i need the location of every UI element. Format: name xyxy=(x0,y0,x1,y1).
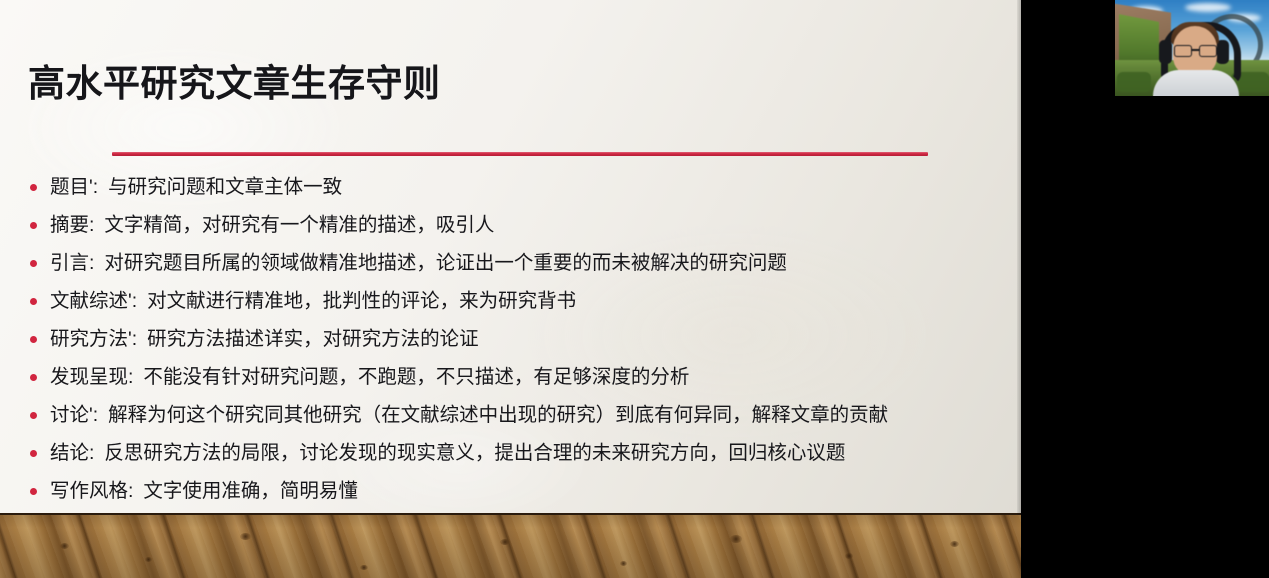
list-item: 写作风格: 文字使用准确，简明易懂 xyxy=(26,472,1006,510)
bullet-text: 研究方法描述详实，对研究方法的论证 xyxy=(147,320,479,358)
bullet-label: 研究方法': xyxy=(50,320,137,358)
presenter-video-thumbnail[interactable] xyxy=(1115,0,1269,96)
screen-share-stage: 高水平研究文章生存守则 题目': 与研究问题和文章主体一致 摘要: 文字精简，对… xyxy=(0,0,1269,578)
list-item: 摘要: 文字精简，对研究有一个精准的描述，吸引人 xyxy=(26,206,1006,244)
headphone-earcup-left xyxy=(1159,40,1172,64)
bullet-text: 文字使用准确，简明易懂 xyxy=(143,472,358,510)
title-underline-rule xyxy=(112,152,928,156)
list-item: 发现呈现: 不能没有针对研究问题，不跑题，不只描述，有足够深度的分析 xyxy=(26,358,1006,396)
list-item: 题目': 与研究问题和文章主体一致 xyxy=(26,168,1006,206)
bullet-text: 与研究问题和文章主体一致 xyxy=(108,168,342,206)
bullet-dot-icon xyxy=(30,336,37,343)
list-item: 引言: 对研究题目所属的领域做精准地描述，论证出一个重要的而未被解决的研究问题 xyxy=(26,244,1006,282)
bullet-dot-icon xyxy=(30,412,37,419)
bullet-dot-icon xyxy=(30,298,37,305)
glasses-icon xyxy=(1174,45,1216,55)
presentation-slide: 高水平研究文章生存守则 题目': 与研究问题和文章主体一致 摘要: 文字精简，对… xyxy=(0,0,1021,578)
bullet-dot-icon xyxy=(30,184,37,191)
bullet-label: 结论: xyxy=(50,434,94,472)
bullet-text: 解释为何这个研究同其他研究（在文献综述中出现的研究）到底有何异同，解释文章的贡献 xyxy=(108,396,888,434)
wood-plank-pattern xyxy=(0,513,1021,578)
list-item: 文献综述': 对文献进行精准地，批判性的评论，来为研究背书 xyxy=(26,282,1006,320)
bullet-text: 对文献进行精准地，批判性的评论，来为研究背书 xyxy=(147,282,576,320)
headphone-earcup-right xyxy=(1216,40,1229,64)
bullet-label: 写作风格: xyxy=(50,472,133,510)
bullet-dot-icon xyxy=(30,450,37,457)
bullet-text: 反思研究方法的局限，讨论发现的现实意义，提出合理的未来研究方向，回归核心议题 xyxy=(104,434,845,472)
list-item: 讨论': 解释为何这个研究同其他研究（在文献综述中出现的研究）到底有何异同，解释… xyxy=(26,396,1006,434)
bullet-text: 对研究题目所属的领域做精准地描述，论证出一个重要的而未被解决的研究问题 xyxy=(104,244,787,282)
bullet-dot-icon xyxy=(30,374,37,381)
list-item: 研究方法': 研究方法描述详实，对研究方法的论证 xyxy=(26,320,1006,358)
bullet-dot-icon xyxy=(30,222,37,229)
list-item: 结论: 反思研究方法的局限，讨论发现的现实意义，提出合理的未来研究方向，回归核心… xyxy=(26,434,1006,472)
slide-title: 高水平研究文章生存守则 xyxy=(28,62,441,106)
bullet-label: 发现呈现: xyxy=(50,358,133,396)
wood-shading-overlay xyxy=(0,513,1021,578)
bullet-label: 讨论': xyxy=(50,396,98,434)
slide-bullet-list: 题目': 与研究问题和文章主体一致 摘要: 文字精简，对研究有一个精准的描述，吸… xyxy=(26,168,1006,510)
bullet-dot-icon xyxy=(30,260,37,267)
bullet-label: 文献综述': xyxy=(50,282,137,320)
bullet-label: 题目': xyxy=(50,168,98,206)
bullet-label: 摘要: xyxy=(50,206,94,244)
bullet-dot-icon xyxy=(30,488,37,495)
presenter-shoulders xyxy=(1153,70,1239,96)
bullet-text: 文字精简，对研究有一个精准的描述，吸引人 xyxy=(104,206,494,244)
bullet-text: 不能没有针对研究问题，不跑题，不只描述，有足够深度的分析 xyxy=(143,358,689,396)
bullet-label: 引言: xyxy=(50,244,94,282)
wooden-floor-photo xyxy=(0,513,1021,578)
